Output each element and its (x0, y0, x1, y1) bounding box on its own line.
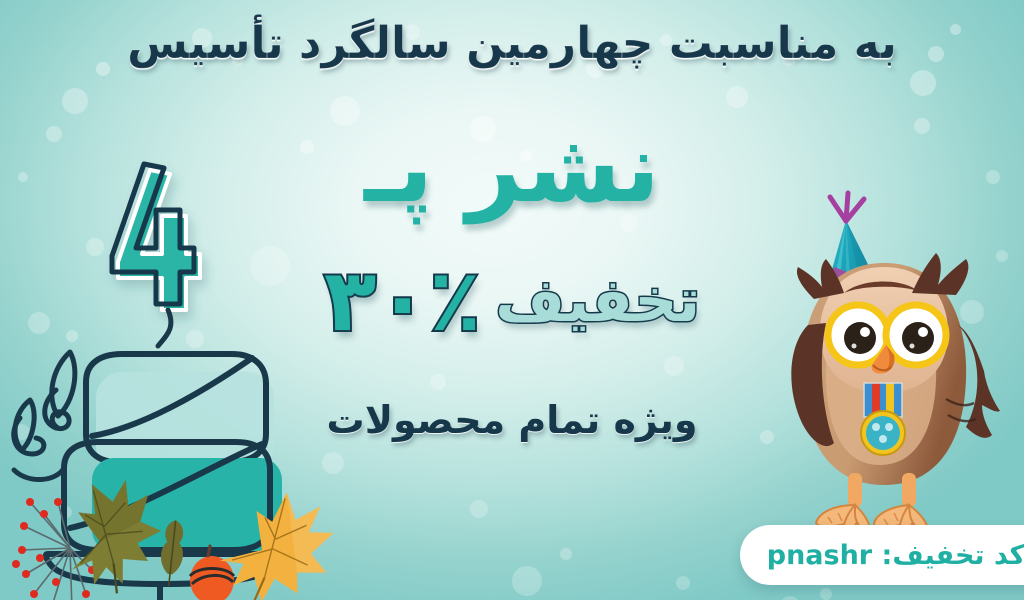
hat-tassel (830, 193, 864, 221)
owl-eye-right (886, 305, 946, 365)
discount-code-text: کد تخفیف: pnashr (767, 540, 1024, 571)
discount-code-badge[interactable]: کد تخفیف: pnashr (740, 525, 1024, 585)
bokeh-dot (430, 374, 446, 390)
owl-award-medal (861, 383, 905, 455)
headline-text: به مناسبت چهارمین سالگرد تأسیس (0, 18, 1024, 69)
bokeh-dot (780, 596, 800, 600)
discount-amount: ۳۰٪ (324, 258, 481, 344)
bokeh-dot (676, 576, 690, 590)
discount-word: تخفیف (495, 266, 700, 336)
bokeh-dot (726, 86, 748, 108)
owl-mascot-illustration (760, 175, 1010, 555)
bokeh-dot (512, 566, 542, 596)
anniversary-banner: به مناسبت چهارمین سالگرد تأسیس نشر پـ تخ… (0, 0, 1024, 600)
bokeh-dot (560, 548, 572, 560)
bokeh-dot (62, 88, 88, 114)
bokeh-dot (322, 452, 344, 474)
bokeh-dot (664, 356, 684, 376)
bokeh-dot (820, 588, 832, 600)
bokeh-dot (470, 500, 488, 518)
bokeh-dot (910, 70, 936, 96)
